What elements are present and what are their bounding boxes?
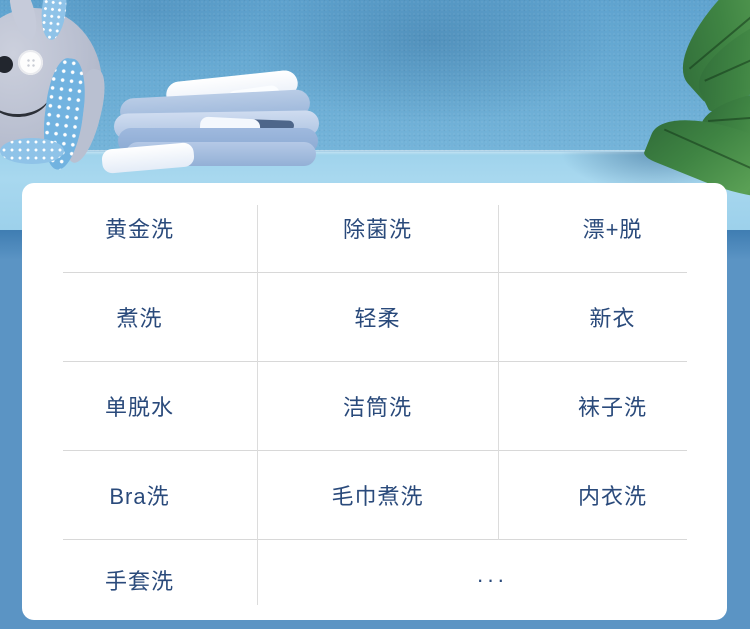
program-cell[interactable]: 漂+脱 <box>498 183 727 272</box>
table-row: 煮洗 轻柔 新衣 <box>22 272 727 361</box>
program-cell[interactable]: 黄金洗 <box>22 183 257 272</box>
folded-clothes-stack <box>108 72 408 167</box>
program-cell[interactable]: 新衣 <box>498 272 727 361</box>
program-cell[interactable]: 手套洗 <box>22 539 257 620</box>
table-divider-horizontal <box>63 272 687 273</box>
program-cell[interactable]: 煮洗 <box>22 272 257 361</box>
table-row: Bra洗 毛巾煮洗 内衣洗 <box>22 450 727 539</box>
table-divider-vertical <box>257 205 258 605</box>
more-programs-cell[interactable]: ··· <box>257 539 727 620</box>
plush-foot <box>0 138 64 164</box>
wash-program-card: 黄金洗 除菌洗 漂+脱 煮洗 轻柔 新衣 单脱水 洁筒洗 袜子洗 Bra洗 毛巾… <box>22 183 727 620</box>
table-divider-horizontal <box>63 539 687 540</box>
table-divider-vertical <box>498 205 499 540</box>
program-cell[interactable]: 单脱水 <box>22 361 257 450</box>
program-cell[interactable]: 洁筒洗 <box>257 361 498 450</box>
program-cell[interactable]: 内衣洗 <box>498 450 727 539</box>
table-row: 单脱水 洁筒洗 袜子洗 <box>22 361 727 450</box>
table-row: 手套洗 ··· <box>22 539 727 620</box>
wash-program-table: 黄金洗 除菌洗 漂+脱 煮洗 轻柔 新衣 单脱水 洁筒洗 袜子洗 Bra洗 毛巾… <box>22 183 727 620</box>
table-row: 黄金洗 除菌洗 漂+脱 <box>22 183 727 272</box>
more-ellipsis: ··· <box>477 574 508 585</box>
program-cell[interactable]: 袜子洗 <box>498 361 727 450</box>
table-divider-horizontal <box>63 450 687 451</box>
table-divider-horizontal <box>63 361 687 362</box>
program-cell[interactable]: 毛巾煮洗 <box>257 450 498 539</box>
program-cell[interactable]: Bra洗 <box>22 450 257 539</box>
program-cell[interactable]: 除菌洗 <box>257 183 498 272</box>
program-cell[interactable]: 轻柔 <box>257 272 498 361</box>
product-detail-page: 黄金洗 除菌洗 漂+脱 煮洗 轻柔 新衣 单脱水 洁筒洗 袜子洗 Bra洗 毛巾… <box>0 0 750 629</box>
